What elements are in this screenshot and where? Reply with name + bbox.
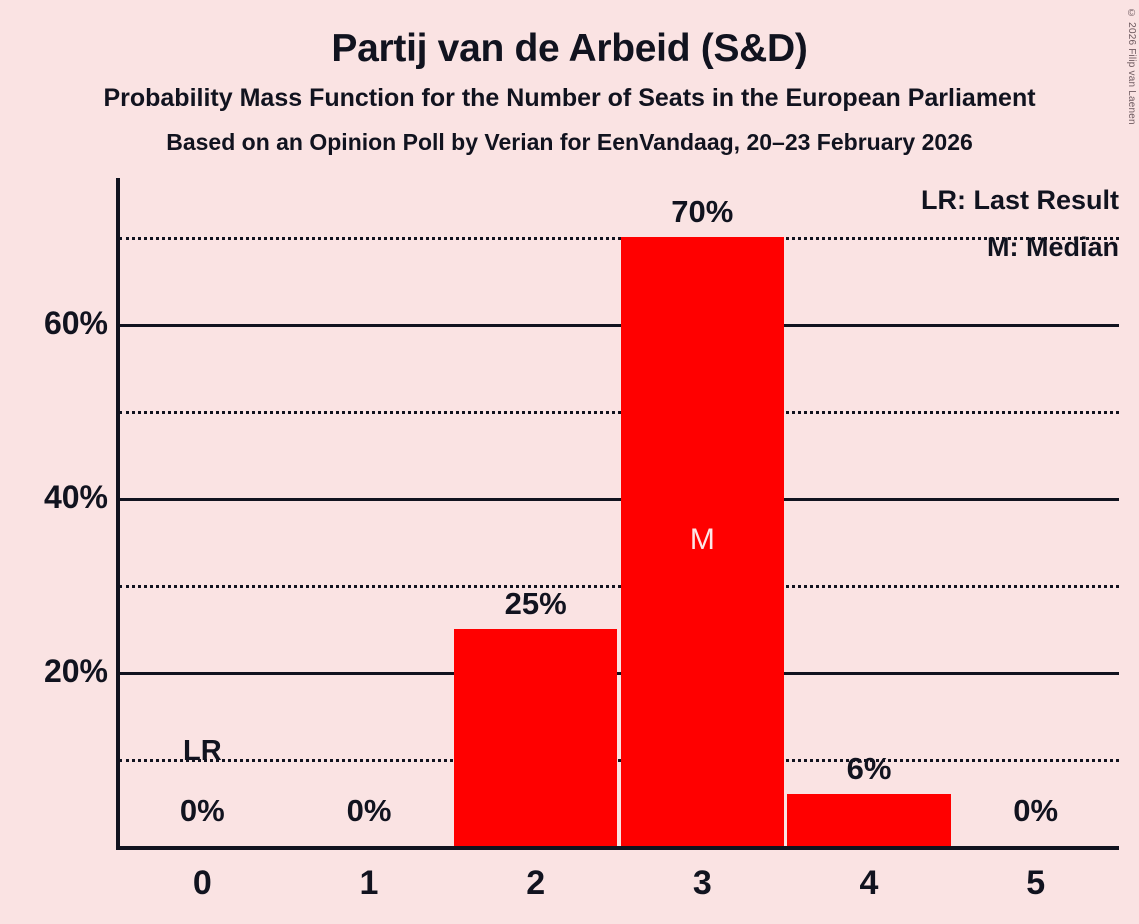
y-axis-labels: 20%40%60% (0, 178, 108, 849)
x-tick-label-4: 4 (786, 864, 953, 902)
y-tick-label-40: 40% (44, 480, 108, 514)
bar-seats-4 (787, 794, 951, 846)
value-label-seats-5: 0% (952, 794, 1119, 828)
x-tick-label-2: 2 (452, 864, 619, 902)
value-label-seats-4: 6% (786, 752, 953, 786)
page-title: Partij van de Arbeid (S&D) (0, 0, 1139, 72)
plot-area: LRM (119, 178, 1119, 846)
gridline-40 (119, 498, 1119, 501)
x-tick-label-5: 5 (952, 864, 1119, 902)
y-tick-label-20: 20% (44, 654, 108, 688)
value-label-seats-1: 0% (286, 794, 453, 828)
chart-subtitle: Probability Mass Function for the Number… (0, 72, 1139, 113)
x-tick-label-0: 0 (119, 864, 286, 902)
pmf-bar-chart: Partij van de Arbeid (S&D) Probability M… (0, 0, 1139, 924)
chart-source-line: Based on an Opinion Poll by Verian for E… (0, 113, 1139, 156)
value-label-seats-0: 0% (119, 794, 286, 828)
y-tick-label-60: 60% (44, 306, 108, 340)
x-tick-label-1: 1 (286, 864, 453, 902)
value-label-seats-3: 70% (619, 195, 786, 229)
gridline-20 (119, 672, 1119, 675)
gridline-50 (119, 411, 1119, 414)
value-label-seats-2: 25% (452, 587, 619, 621)
marker-lr-seats-0: LR (119, 735, 286, 767)
x-axis-line (116, 846, 1119, 850)
copyright-notice: © 2026 Filip van Laenen (1126, 8, 1137, 125)
bar-seats-2 (454, 629, 618, 847)
gridline-30 (119, 585, 1119, 588)
x-tick-label-3: 3 (619, 864, 786, 902)
marker-m-seats-3: M (619, 524, 786, 556)
gridline-60 (119, 324, 1119, 327)
gridline-70 (119, 237, 1119, 240)
chart-header: Partij van de Arbeid (S&D) Probability M… (0, 0, 1139, 156)
